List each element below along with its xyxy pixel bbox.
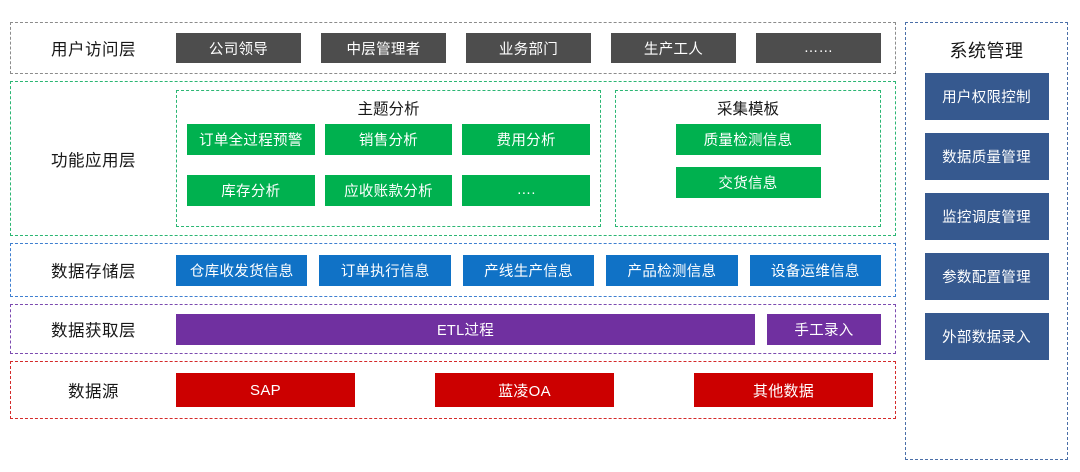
theme-box-inventory-analysis[interactable]: 库存分析 bbox=[187, 175, 315, 206]
collection-template-grid: 质量检测信息 交货信息 bbox=[676, 124, 821, 216]
subgroup-title-collection-template: 采集模板 bbox=[717, 97, 779, 119]
system-management-panel: 系统管理 用户权限控制 数据质量管理 监控调度管理 参数配置管理 外部数据录入 bbox=[905, 22, 1068, 460]
system-management-title: 系统管理 bbox=[950, 37, 1024, 63]
sidebar-item-parameter-configuration-management[interactable]: 参数配置管理 bbox=[925, 253, 1049, 300]
layer-label-data-source: 数据源 bbox=[11, 378, 176, 402]
storage-box-order-execution-info[interactable]: 订单执行信息 bbox=[319, 255, 450, 286]
sidebar-item-data-quality-management[interactable]: 数据质量管理 bbox=[925, 133, 1049, 180]
sidebar-item-monitoring-scheduling-management[interactable]: 监控调度管理 bbox=[925, 193, 1049, 240]
layer-data-storage: 数据存储层 仓库收发货信息 订单执行信息 产线生产信息 产品检测信息 设备运维信… bbox=[10, 243, 896, 297]
layer-body-user-access: 公司领导 中层管理者 业务部门 生产工人 …… bbox=[176, 23, 895, 73]
template-box-quality-inspection-info[interactable]: 质量检测信息 bbox=[676, 124, 821, 155]
system-management-item-list: 用户权限控制 数据质量管理 监控调度管理 参数配置管理 外部数据录入 bbox=[925, 73, 1049, 451]
layer-label-user-access: 用户访问层 bbox=[11, 36, 176, 60]
storage-box-production-line-info[interactable]: 产线生产信息 bbox=[463, 255, 594, 286]
layer-body-data-storage: 仓库收发货信息 订单执行信息 产线生产信息 产品检测信息 设备运维信息 bbox=[176, 244, 895, 296]
source-box-sap[interactable]: SAP bbox=[176, 373, 355, 407]
theme-box-expense-analysis[interactable]: 费用分析 bbox=[462, 124, 590, 155]
acquire-box-manual-entry[interactable]: 手工录入 bbox=[767, 314, 881, 345]
architecture-diagram: 用户访问层 公司领导 中层管理者 业务部门 生产工人 …… 功能应用层 主题分析 bbox=[0, 0, 1080, 472]
layer-data-source: 数据源 SAP 蓝凌OA 其他数据 bbox=[10, 361, 896, 419]
function-group-row: 主题分析 订单全过程预警 销售分析 费用分析 库存分析 应收账款分析 …. 采集… bbox=[176, 82, 895, 235]
theme-box-receivables-analysis[interactable]: 应收账款分析 bbox=[325, 175, 453, 206]
layer-stack: 用户访问层 公司领导 中层管理者 业务部门 生产工人 …… 功能应用层 主题分析 bbox=[10, 22, 896, 460]
layer-body-data-acquisition: ETL过程 手工录入 bbox=[176, 305, 895, 353]
theme-analysis-grid: 订单全过程预警 销售分析 费用分析 库存分析 应收账款分析 …. bbox=[187, 124, 590, 216]
data-source-box-row: SAP 蓝凌OA 其他数据 bbox=[176, 373, 895, 407]
sidebar-item-external-data-entry[interactable]: 外部数据录入 bbox=[925, 313, 1049, 360]
access-box-production-worker[interactable]: 生产工人 bbox=[611, 33, 736, 63]
access-box-more[interactable]: …… bbox=[756, 33, 881, 63]
subgroup-collection-template: 采集模板 质量检测信息 交货信息 bbox=[615, 90, 881, 227]
access-box-company-leader[interactable]: 公司领导 bbox=[176, 33, 301, 63]
subgroup-theme-analysis: 主题分析 订单全过程预警 销售分析 费用分析 库存分析 应收账款分析 …. bbox=[176, 90, 601, 227]
source-box-other-data[interactable]: 其他数据 bbox=[694, 373, 873, 407]
layer-function-application: 功能应用层 主题分析 订单全过程预警 销售分析 费用分析 库存分析 应收账款分析… bbox=[10, 81, 896, 236]
subgroup-title-theme-analysis: 主题分析 bbox=[357, 97, 419, 119]
theme-box-sales-analysis[interactable]: 销售分析 bbox=[325, 124, 453, 155]
acquire-box-etl-process[interactable]: ETL过程 bbox=[176, 314, 755, 345]
layer-user-access: 用户访问层 公司领导 中层管理者 业务部门 生产工人 …… bbox=[10, 22, 896, 74]
layer-data-acquisition: 数据获取层 ETL过程 手工录入 bbox=[10, 304, 896, 354]
access-box-business-dept[interactable]: 业务部门 bbox=[466, 33, 591, 63]
layer-body-data-source: SAP 蓝凌OA 其他数据 bbox=[176, 362, 895, 418]
storage-box-equipment-maintenance-info[interactable]: 设备运维信息 bbox=[750, 255, 881, 286]
storage-box-product-inspection-info[interactable]: 产品检测信息 bbox=[606, 255, 737, 286]
data-storage-box-row: 仓库收发货信息 订单执行信息 产线生产信息 产品检测信息 设备运维信息 bbox=[176, 255, 895, 286]
source-box-lanling-oa[interactable]: 蓝凌OA bbox=[435, 373, 614, 407]
sidebar-item-user-permission-control[interactable]: 用户权限控制 bbox=[925, 73, 1049, 120]
layer-label-function-application: 功能应用层 bbox=[11, 147, 176, 171]
template-box-delivery-info[interactable]: 交货信息 bbox=[676, 167, 821, 198]
user-access-box-row: 公司领导 中层管理者 业务部门 生产工人 …… bbox=[176, 33, 895, 63]
theme-box-order-process-alert[interactable]: 订单全过程预警 bbox=[187, 124, 315, 155]
access-box-middle-manager[interactable]: 中层管理者 bbox=[321, 33, 446, 63]
layer-label-data-acquisition: 数据获取层 bbox=[11, 317, 176, 341]
layer-body-function-application: 主题分析 订单全过程预警 销售分析 费用分析 库存分析 应收账款分析 …. 采集… bbox=[176, 82, 895, 235]
theme-box-more[interactable]: …. bbox=[462, 175, 590, 206]
storage-box-warehouse-receipt-info[interactable]: 仓库收发货信息 bbox=[176, 255, 307, 286]
layer-label-data-storage: 数据存储层 bbox=[11, 258, 176, 282]
data-acquisition-box-row: ETL过程 手工录入 bbox=[176, 314, 895, 345]
